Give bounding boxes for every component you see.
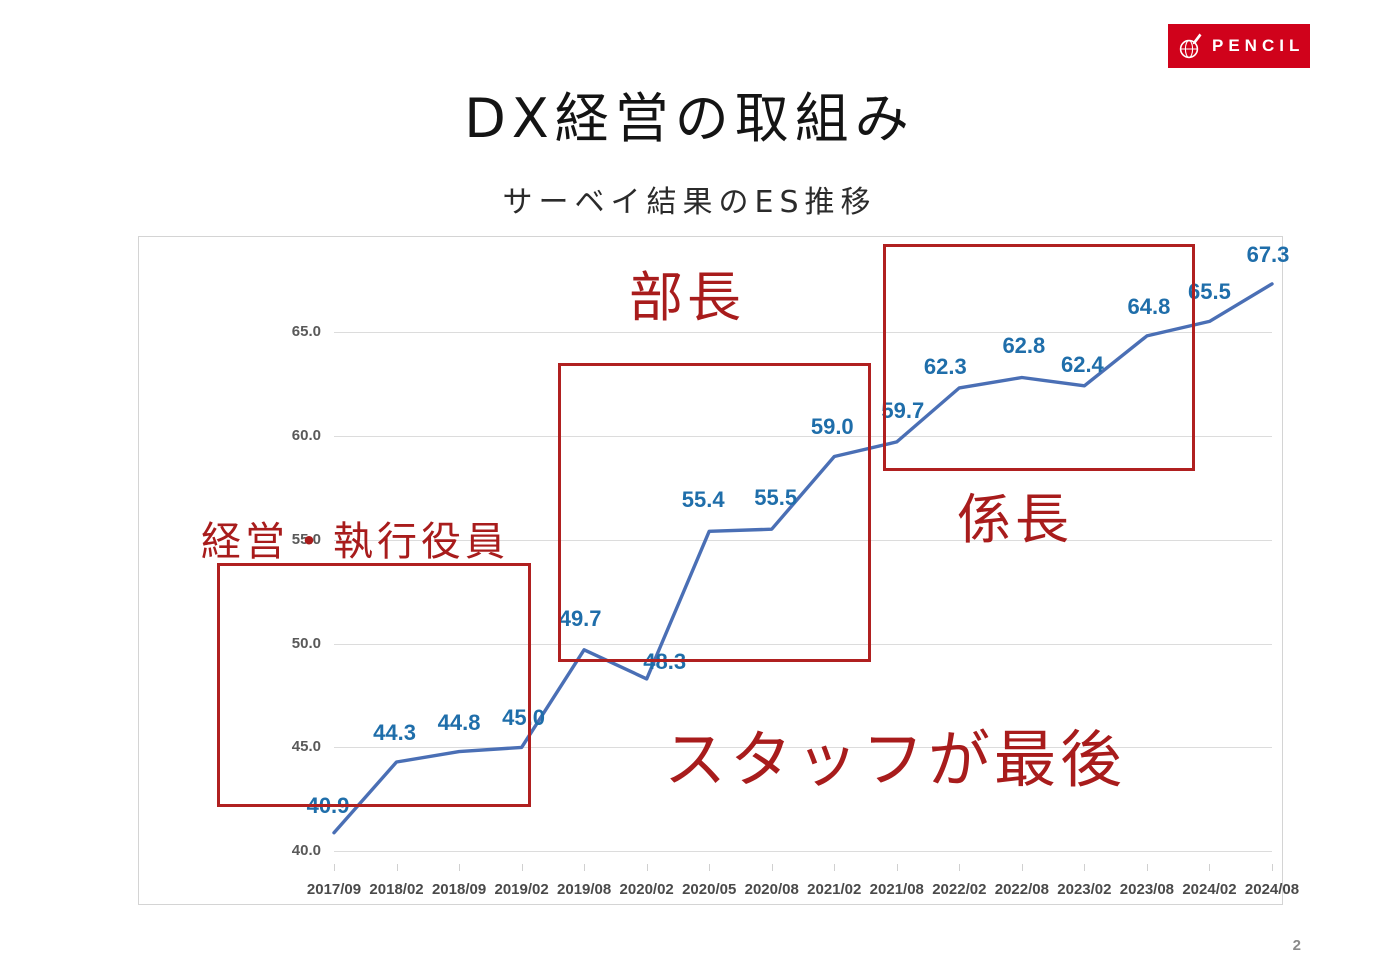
anno-box-section-chief: [883, 244, 1195, 471]
x-tick-mark: [834, 864, 835, 871]
x-tick-label: 2020/08: [745, 881, 799, 898]
x-tick-label: 2022/02: [932, 881, 986, 898]
x-tick-mark: [397, 864, 398, 871]
pencil-logo: PENCIL: [1168, 24, 1310, 68]
anno-box-exec-officers: [217, 563, 531, 807]
page-title: DX経営の取組み: [0, 74, 1379, 153]
x-axis: 2017/092018/022018/092019/022019/082020/…: [139, 868, 1282, 904]
anno-label-exec-officers: 経営・執行役員: [201, 509, 509, 567]
x-tick-mark: [647, 864, 648, 871]
x-tick-label: 2020/05: [682, 881, 736, 898]
logo-wordmark: PENCIL: [1212, 36, 1304, 56]
x-tick-mark: [772, 864, 773, 871]
slide-root: PENCIL DX経営の取組み サーベイ結果のES推移 40.045.050.0…: [0, 0, 1379, 976]
x-tick-label: 2019/02: [494, 881, 548, 898]
plot-area: 40.045.050.055.060.065.0 40.944.344.845.…: [139, 237, 1282, 904]
x-tick-label: 2024/02: [1182, 881, 1236, 898]
x-tick-mark: [1147, 864, 1148, 871]
x-tick-mark: [897, 864, 898, 871]
anno-label-section-chief: 係長: [957, 475, 1073, 554]
data-point-label: 67.3: [1247, 242, 1290, 268]
x-tick-mark: [1209, 864, 1210, 871]
x-tick-label: 2023/02: [1057, 881, 1111, 898]
x-tick-mark: [584, 864, 585, 871]
globe-pencil-icon: [1178, 32, 1204, 60]
x-tick-mark: [459, 864, 460, 871]
x-tick-label: 2021/02: [807, 881, 861, 898]
anno-box-department-manager: [558, 363, 871, 662]
x-tick-mark: [1022, 864, 1023, 871]
x-tick-label: 2018/02: [369, 881, 423, 898]
x-tick-mark: [334, 864, 335, 871]
x-tick-mark: [959, 864, 960, 871]
anno-label-staff-last: スタッフが最後: [664, 709, 1126, 799]
x-tick-mark: [709, 864, 710, 871]
x-tick-label: 2019/08: [557, 881, 611, 898]
anno-label-department-manager: 部長: [629, 253, 745, 332]
x-tick-label: 2017/09: [307, 881, 361, 898]
page-subtitle: サーベイ結果のES推移: [0, 177, 1379, 221]
x-tick-mark: [1272, 864, 1273, 871]
chart-container: 40.045.050.055.060.065.0 40.944.344.845.…: [138, 236, 1283, 905]
x-tick-label: 2020/02: [620, 881, 674, 898]
x-tick-label: 2023/08: [1120, 881, 1174, 898]
x-tick-label: 2024/08: [1245, 881, 1299, 898]
x-tick-mark: [1084, 864, 1085, 871]
x-tick-label: 2021/08: [870, 881, 924, 898]
x-tick-label: 2022/08: [995, 881, 1049, 898]
x-tick-mark: [522, 864, 523, 871]
x-tick-label: 2018/09: [432, 881, 486, 898]
page-number: 2: [1293, 937, 1301, 954]
